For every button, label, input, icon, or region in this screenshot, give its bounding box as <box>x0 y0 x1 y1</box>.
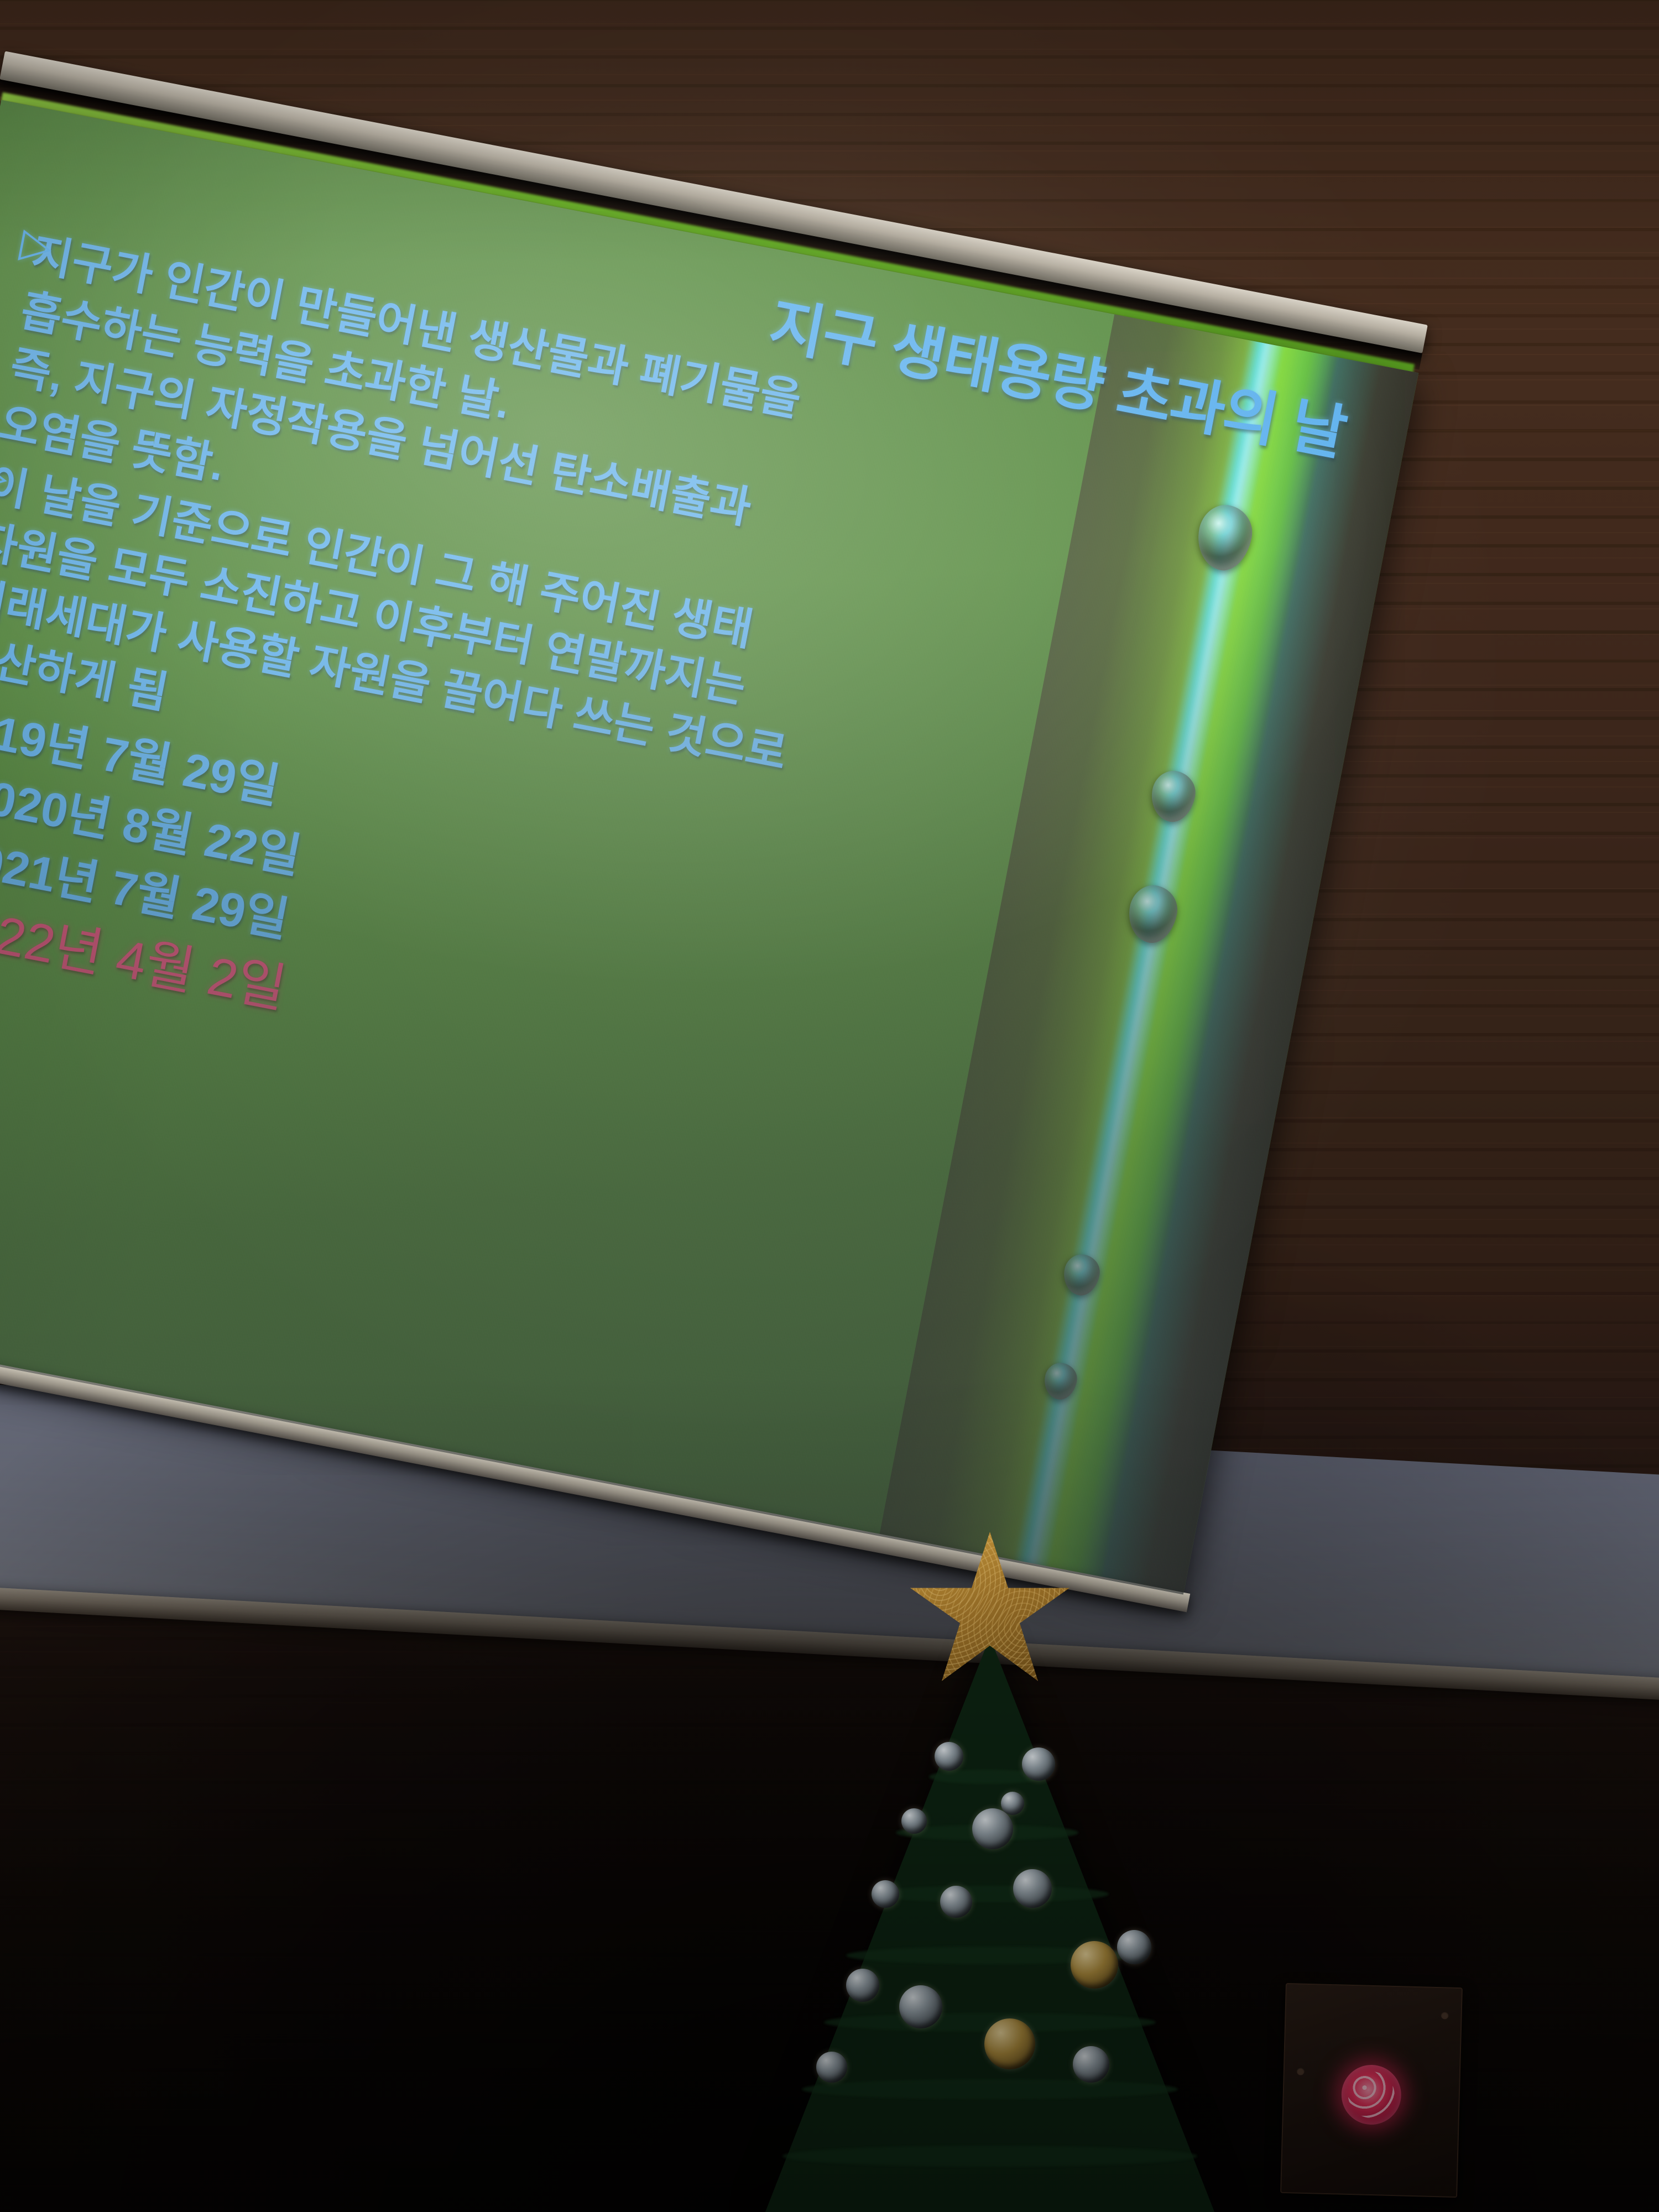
ornament-bauble <box>872 1880 899 1908</box>
ornament-bauble <box>935 1742 963 1771</box>
ornament-bauble <box>1073 2046 1109 2083</box>
ornament-bauble <box>1022 1747 1055 1781</box>
ornament-bauble <box>1001 1792 1024 1815</box>
ornament-bauble <box>901 1808 927 1834</box>
status-led-indicator <box>1340 2064 1402 2125</box>
ornament-bauble <box>1013 1869 1052 1908</box>
screw-icon <box>1441 2011 1448 2019</box>
ornament-bauble <box>1117 1930 1151 1964</box>
ornament-bauble <box>816 2052 847 2083</box>
ornament-bauble <box>940 1886 972 1918</box>
tree-branches <box>763 1637 1217 2212</box>
screw-icon <box>1297 2067 1305 2075</box>
ornament-bauble <box>899 1985 942 2028</box>
christmas-tree <box>763 1532 1217 2212</box>
ornament-bauble <box>972 1808 1013 1849</box>
ornament-bauble <box>1071 1941 1118 1989</box>
ornament-bauble <box>984 2018 1035 2069</box>
wall-mounted-device[interactable] <box>1280 1983 1463 2198</box>
triangle-bullet-icon <box>0 226 27 263</box>
ornament-bauble <box>846 1969 879 2002</box>
